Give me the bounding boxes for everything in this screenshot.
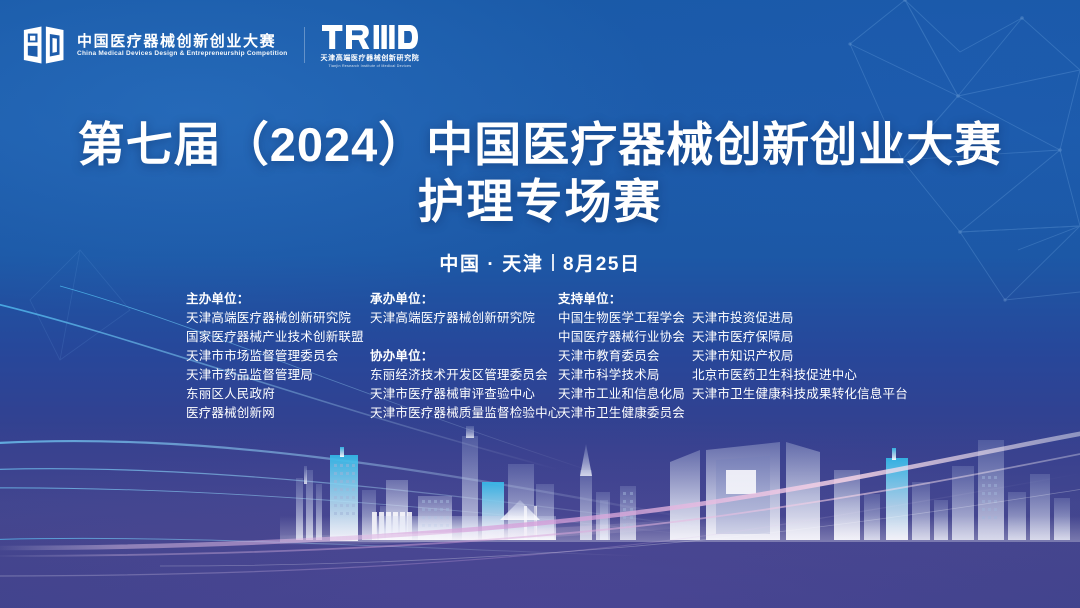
- institute-name-en: Tianjin Research Institute of Medical De…: [329, 65, 412, 69]
- list-item: 东丽经济技术开发区管理委员会: [370, 366, 558, 385]
- organizer-heading: 承办单位：: [370, 290, 558, 309]
- list-item: 天津市知识产权局: [692, 347, 902, 366]
- institute-logo: 天津高端医疗器械创新研究院 Tianjin Research Institute…: [321, 22, 420, 69]
- organizer-lists: 主办单位： 天津高端医疗器械创新研究院 国家医疗器械产业技术创新联盟 天津市市场…: [186, 290, 902, 423]
- meta-divider: [552, 254, 554, 271]
- list-item: 天津市医疗保障局: [692, 328, 902, 347]
- list-item: 天津高端医疗器械创新研究院: [186, 309, 370, 328]
- trimd-wordmark-icon: [322, 22, 418, 52]
- list-item: 北京市医药卫生科技促进中心: [692, 366, 902, 385]
- list-item: 国家医疗器械产业技术创新联盟: [186, 328, 370, 347]
- host-heading: 主办单位：: [186, 290, 370, 309]
- title-block: 第七届（2024）中国医疗器械创新创业大赛 护理专场赛 中国 · 天津 8月25…: [0, 116, 1080, 276]
- logo-divider: [304, 27, 305, 63]
- list-item: 天津市医疗器械质量监督检验中心: [370, 404, 558, 423]
- list-item: 医疗器械创新网: [186, 404, 370, 423]
- competition-name-cn: 中国医疗器械创新创业大赛: [77, 34, 288, 49]
- institute-name-cn: 天津高端医疗器械创新研究院: [321, 55, 420, 62]
- list-item: 天津市卫生健康科技成果转化信息平台: [692, 385, 902, 404]
- organizer-column-host: 主办单位： 天津高端医疗器械创新研究院 国家医疗器械产业技术创新联盟 天津市市场…: [186, 290, 370, 423]
- event-location: 中国 · 天津: [439, 249, 543, 276]
- list-item: 中国医疗器械行业协会: [558, 328, 692, 347]
- competition-logo-text: 中国医疗器械创新创业大赛 China Medical Devices Desig…: [77, 34, 288, 58]
- competition-logo: 中国医疗器械创新创业大赛 China Medical Devices Desig…: [22, 23, 288, 67]
- list-item: 天津市教育委员会: [558, 347, 692, 366]
- coorganizer-heading: 协办单位：: [370, 347, 558, 366]
- organizer-column-supporter-b: 天津市投资促进局 天津市医疗保障局 天津市知识产权局 北京市医药卫生科技促进中心…: [692, 290, 902, 404]
- list-item: 天津高端医疗器械创新研究院: [370, 309, 558, 328]
- list-item: 天津市药品监督管理局: [186, 366, 370, 385]
- list-item: 天津市投资促进局: [692, 309, 902, 328]
- organizer-column-organizer: 承办单位： 天津高端医疗器械创新研究院 协办单位： 东丽经济技术开发区管理委员会…: [370, 290, 558, 423]
- event-poster: 中国医疗器械创新创业大赛 China Medical Devices Desig…: [0, 0, 1080, 608]
- page-title-line1: 第七届（2024）中国医疗器械创新创业大赛: [0, 116, 1080, 173]
- list-item: 天津市工业和信息化局: [558, 385, 692, 404]
- column-spacer: [370, 328, 558, 347]
- organizer-column-supporter-a: 支持单位： 中国生物医学工程学会 中国医疗器械行业协会 天津市教育委员会 天津市…: [558, 290, 692, 423]
- list-item: 中国生物医学工程学会: [558, 309, 692, 328]
- list-item: 天津市卫生健康委员会: [558, 404, 692, 423]
- competition-name-en: China Medical Devices Design & Entrepren…: [77, 51, 288, 58]
- event-meta: 中国 · 天津 8月25日: [0, 249, 1080, 276]
- supporter-heading: 支持单位：: [558, 290, 692, 309]
- poster-header: 中国医疗器械创新创业大赛 China Medical Devices Desig…: [22, 22, 419, 69]
- list-item: 东丽区人民政府: [186, 385, 370, 404]
- list-item: 天津市市场监督管理委员会: [186, 347, 370, 366]
- list-item: 天津市医疗器械审评查验中心: [370, 385, 558, 404]
- bottom-glow: [0, 418, 1080, 608]
- open-door-logo-icon: [22, 23, 68, 67]
- event-date: 8月25日: [563, 249, 641, 276]
- page-title-line2: 护理专场赛: [0, 173, 1080, 230]
- list-item: 天津市科学技术局: [558, 366, 692, 385]
